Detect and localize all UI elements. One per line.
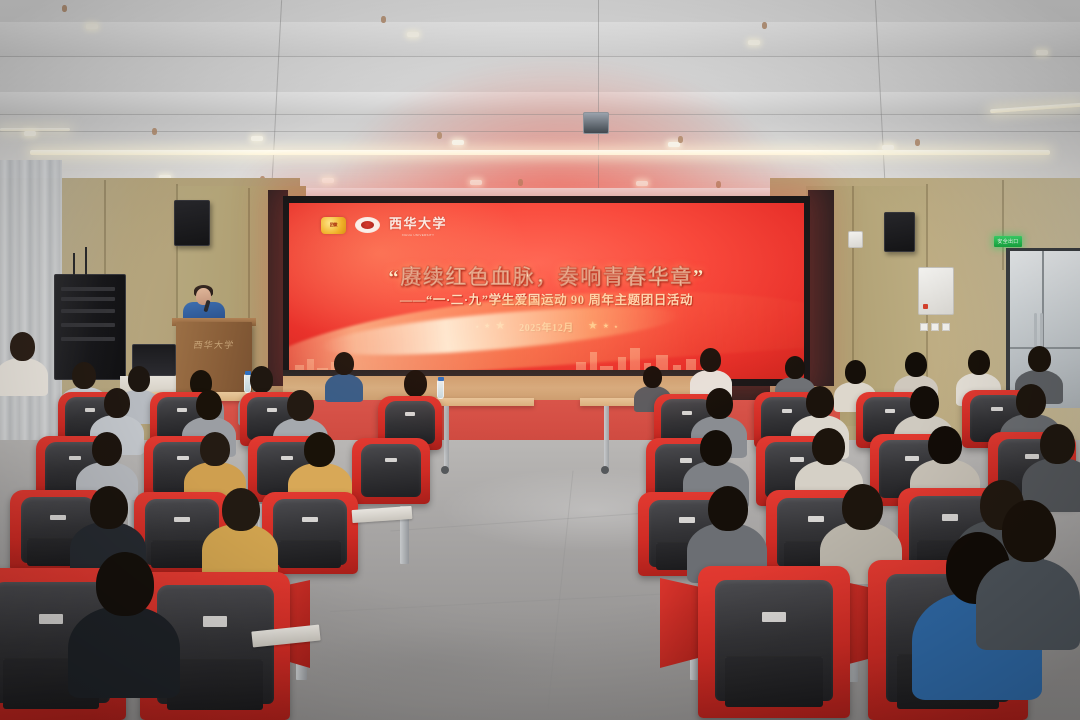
audience-head: [90, 486, 128, 529]
recessed-downlight: [322, 178, 334, 183]
recessed-downlight: [470, 180, 482, 185]
light-switch[interactable]: [942, 323, 950, 331]
university-name: 西华大学: [389, 216, 447, 231]
audience-head: [928, 426, 962, 464]
exit-sign: 安全出口: [994, 236, 1022, 247]
screen-surround-right: [808, 190, 834, 386]
audience-head: [910, 386, 939, 419]
recessed-downlight: [748, 40, 760, 45]
antenna-icon: [85, 247, 87, 275]
podium-wordmark: 西华大学: [175, 338, 253, 351]
audience-head: [1016, 384, 1046, 418]
audience-head: [1002, 500, 1056, 562]
audience-head: [10, 332, 35, 361]
sprinkler-head: [437, 132, 442, 139]
recessed-downlight: [1036, 50, 1048, 55]
recessed-downlight: [86, 24, 98, 29]
university-name-en: XIHUA UNIVERSITY: [389, 233, 447, 237]
audience-head: [708, 486, 748, 531]
audience-head: [128, 366, 150, 392]
audience-head: [968, 350, 990, 375]
ceiling-ac-vent: [583, 112, 609, 134]
linear-light-strip: [30, 150, 1050, 155]
audience-head: [643, 366, 662, 388]
ceiling: [0, 0, 1080, 196]
table-caster: [441, 466, 449, 474]
audience-head: [92, 432, 122, 466]
audience-head: [250, 366, 273, 393]
bottle-cap: [438, 377, 444, 381]
audience-head: [404, 370, 427, 397]
sprinkler-head: [152, 128, 157, 135]
audience-head: [842, 484, 883, 530]
ceiling-seam-vertical: [598, 0, 599, 196]
auditorium-seat[interactable]: [698, 566, 850, 718]
audience-head: [706, 388, 733, 419]
audience-head: [334, 352, 354, 375]
light-switch[interactable]: [920, 323, 928, 331]
light-switch[interactable]: [931, 323, 939, 331]
audience-head: [200, 432, 230, 466]
recessed-downlight: [24, 131, 36, 136]
ceiling-red-glow: [300, 0, 820, 196]
audience-head: [96, 552, 154, 616]
sprinkler-head: [915, 139, 920, 146]
sprinkler-head: [518, 179, 523, 186]
table-leg: [604, 406, 609, 468]
light-switch-row[interactable]: [920, 323, 950, 331]
audience-shoulder: [976, 558, 1080, 650]
audience-head: [196, 390, 222, 420]
ceiling-seam: [0, 114, 1080, 115]
control-panel-box[interactable]: [918, 267, 954, 315]
wall-plate-right: [848, 231, 863, 248]
auditorium-photo: 团徽 西华大学 XIHUA UNIVERSITY “赓续红色血脉，奏响青春华章”…: [0, 0, 1080, 720]
audience-head: [1040, 424, 1075, 464]
led-screen: 团徽 西华大学 XIHUA UNIVERSITY “赓续红色血脉，奏响青春华章”…: [283, 196, 810, 386]
window-curtain: [0, 160, 62, 460]
podium: 西华大学: [176, 322, 252, 394]
audience-head: [812, 428, 845, 465]
recessed-downlight: [882, 145, 894, 150]
wall-panel-seam: [1002, 180, 1004, 270]
audience-head: [785, 356, 805, 379]
ceiling-seam: [0, 56, 1080, 57]
sprinkler-head: [716, 181, 721, 188]
auditorium-seat[interactable]: [352, 438, 430, 504]
audience-shoulder: [0, 358, 48, 396]
audience-shoulder: [68, 606, 180, 698]
ceiling-seam: [0, 131, 1080, 132]
university-wordmark: 西华大学 XIHUA UNIVERSITY: [389, 213, 447, 237]
audience-head: [222, 488, 260, 531]
wall-panel-seam: [248, 188, 250, 338]
panel-indicator-light: [923, 304, 928, 309]
youth-league-emblem-icon: 团徽: [321, 217, 346, 234]
sprinkler-head: [62, 5, 67, 12]
audience-head: [104, 388, 130, 418]
sprinkler-head: [762, 22, 767, 29]
screen-logo-row: 团徽 西华大学 XIHUA UNIVERSITY: [321, 213, 447, 237]
wall-speaker-right-icon: [884, 212, 915, 252]
recessed-downlight: [251, 136, 263, 141]
recessed-downlight: [452, 140, 464, 145]
audience-shoulder: [325, 374, 363, 402]
table-caster: [601, 466, 609, 474]
sprinkler-head: [381, 16, 386, 23]
screen-title: “赓续红色血脉，奏响青春华章”: [289, 261, 804, 291]
recessed-downlight: [407, 32, 419, 37]
audience-head: [287, 390, 314, 421]
antenna-icon: [73, 253, 75, 275]
recessed-downlight: [636, 181, 648, 186]
audience-head: [72, 362, 96, 389]
audience-head: [700, 430, 732, 466]
audience-head: [845, 360, 866, 384]
university-seal-icon: [355, 217, 380, 233]
audience-head: [905, 352, 927, 377]
led-screen-surface: 团徽 西华大学 XIHUA UNIVERSITY “赓续红色血脉，奏响青春华章”…: [289, 203, 804, 379]
table-leg: [444, 406, 449, 468]
sprinkler-head: [678, 136, 683, 143]
audience-head: [304, 432, 335, 467]
audience-head: [700, 348, 721, 372]
audience-head: [1028, 346, 1051, 372]
wall-speaker-left-icon: [174, 200, 210, 246]
audience-head: [806, 386, 834, 418]
exit-sign-label: 安全出口: [997, 238, 1018, 245]
